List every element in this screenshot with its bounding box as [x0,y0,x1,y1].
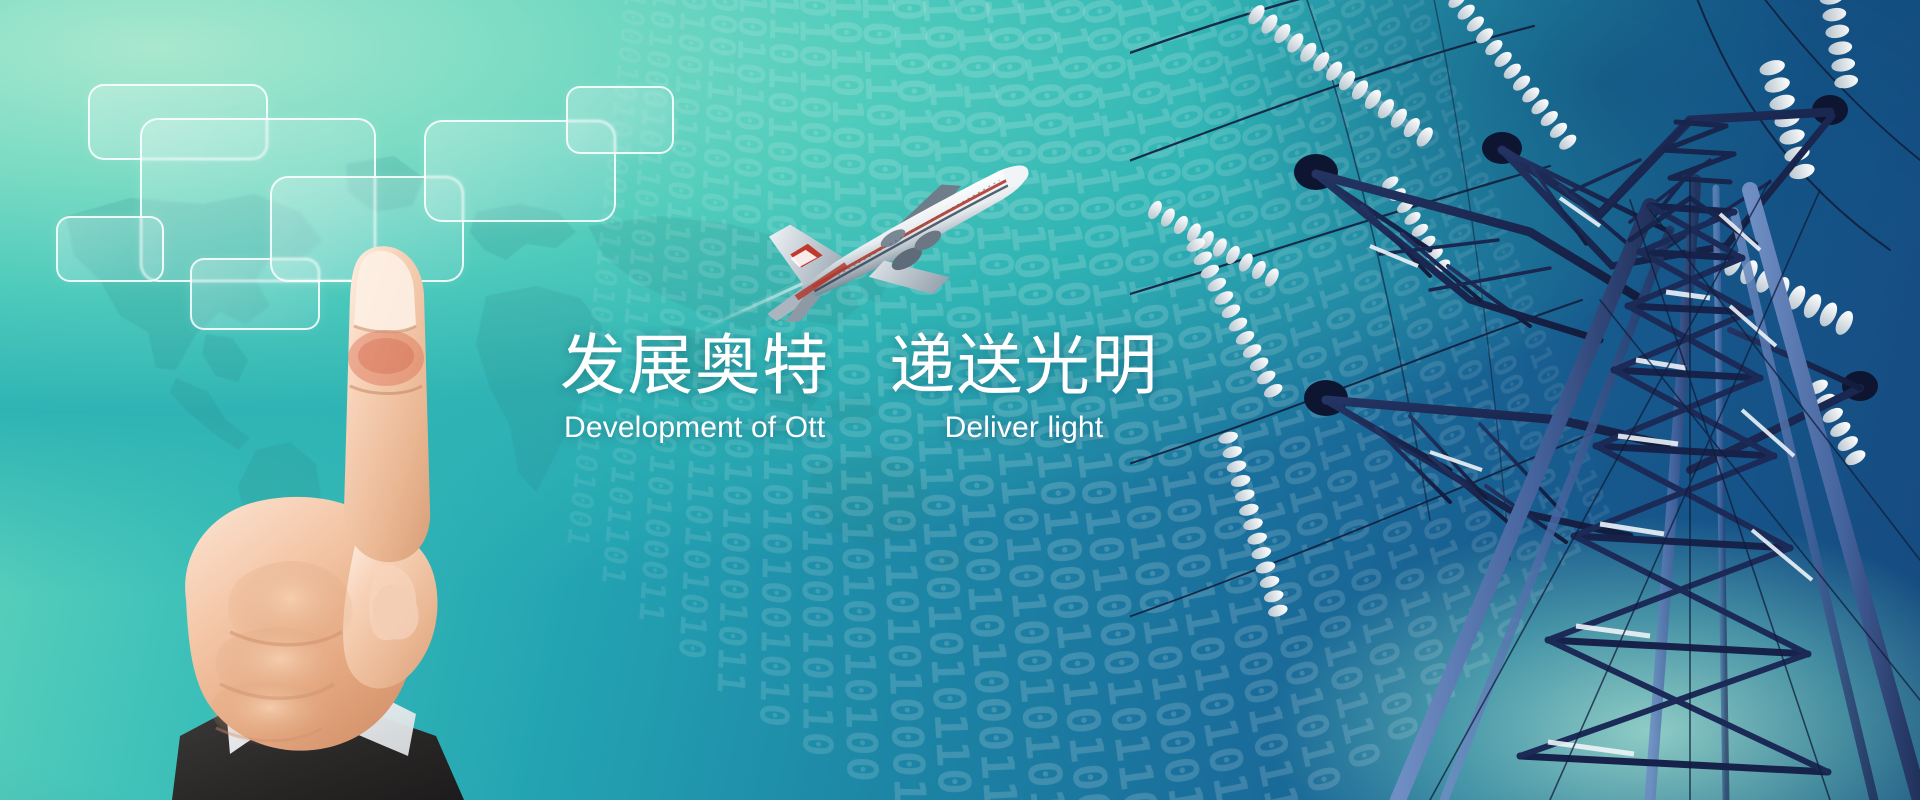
headline-chinese-1: 发展奥特 [560,330,829,401]
headline-english-1: Development of Ott [564,411,825,446]
headline-chinese-2: 递送光明 [889,330,1158,401]
headline-group-2: 递送光明 Deliver light [889,330,1158,446]
headline-english-2: Deliver light [945,411,1104,446]
headline-group-1: 发展奥特 Development of Ott [560,330,829,446]
hero-banner: 1010100010101001011010100010101001011010… [0,0,1920,800]
headline-row: 发展奥特 Development of Ott 递送光明 Deliver lig… [560,330,1320,446]
headline-block: 发展奥特 Development of Ott 递送光明 Deliver lig… [560,330,1320,446]
